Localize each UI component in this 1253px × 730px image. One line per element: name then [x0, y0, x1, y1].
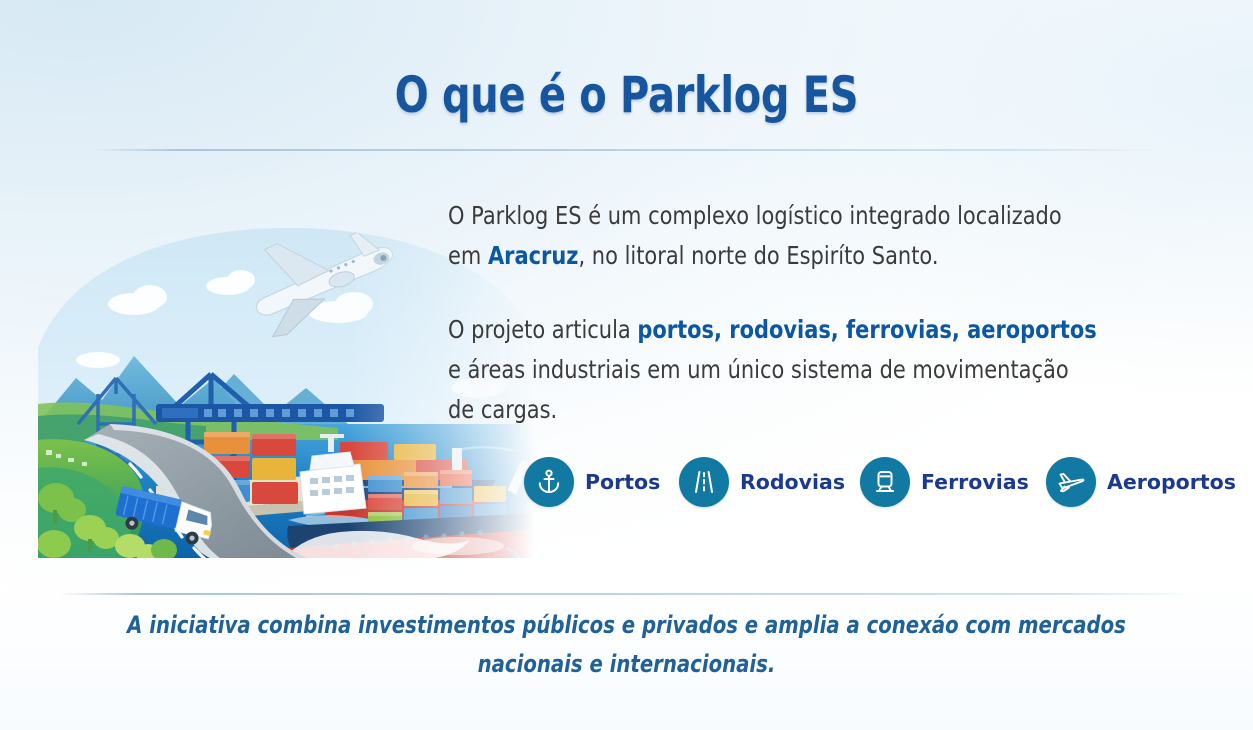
paragraph-two: O projeto articula portos, rodovias, fer… [448, 310, 1098, 430]
body-copy: O Parklog ES é um complexo logístico int… [448, 196, 1098, 430]
badge-portos[interactable]: Portos [524, 457, 660, 507]
airplane-icon [1046, 457, 1096, 507]
badge-label: Rodovias [740, 470, 845, 494]
road-icon [679, 457, 729, 507]
badge-rodovias[interactable]: Rodovias [679, 457, 845, 507]
caption-divider [58, 593, 1196, 595]
p2-highlight-modes: portos, rodovias, ferrovias, aeroportos [637, 315, 1096, 344]
p1-text-b: , no litoral norte do Espiríto Santo. [578, 241, 938, 270]
train-icon [860, 457, 910, 507]
transport-modes-row: Portos Rodovias [524, 457, 1236, 513]
paragraph-spacer [448, 276, 1098, 310]
badge-label: Aeroportos [1107, 470, 1236, 494]
closing-caption: A iniciativa combina investimentos públi… [113, 606, 1140, 684]
badge-label: Portos [585, 470, 660, 494]
p2-text-b: e áreas industriais em um único sistema … [448, 355, 1069, 424]
title-divider [93, 149, 1163, 151]
infographic-card: O que é o Parklog ES [0, 0, 1253, 730]
caption-line-1: A iniciativa combina investimentos públi… [113, 606, 1140, 645]
badge-aeroportos[interactable]: Aeroportos [1046, 457, 1236, 507]
paragraph-one: O Parklog ES é um complexo logístico int… [448, 196, 1098, 276]
badge-label: Ferrovias [921, 470, 1029, 494]
p2-text-a: O projeto articula [448, 315, 637, 344]
p1-highlight-aracruz: Aracruz [488, 241, 579, 270]
caption-line-2: nacionais e internacionais. [113, 645, 1140, 684]
anchor-icon [524, 457, 574, 507]
badge-ferrovias[interactable]: Ferrovias [860, 457, 1029, 507]
page-title: O que é o Parklog ES [125, 66, 1127, 124]
